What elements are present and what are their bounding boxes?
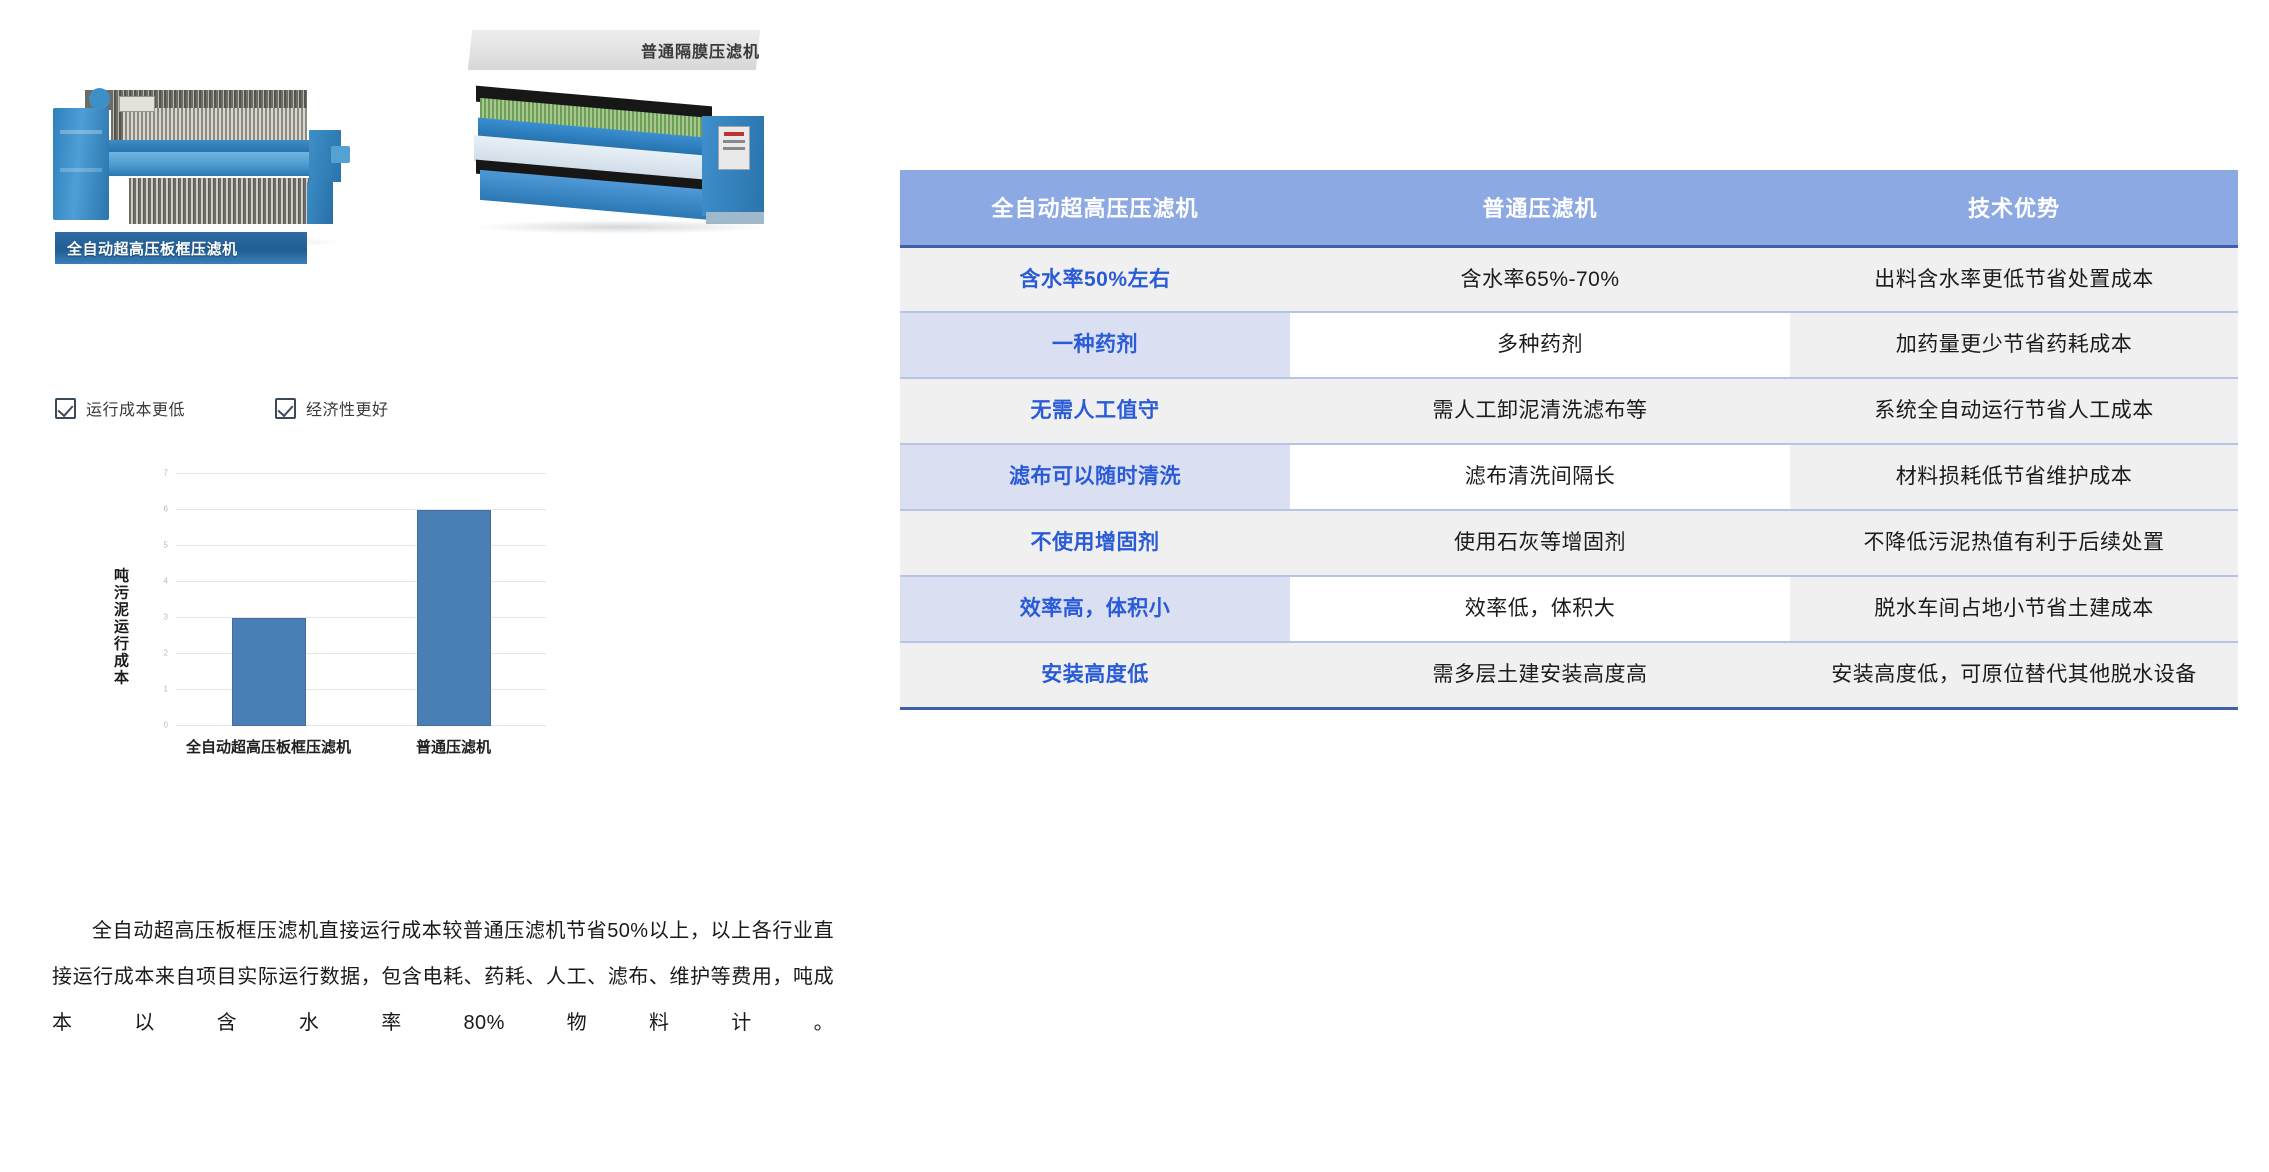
chart-bar (232, 618, 306, 726)
table-cell-feature: 效率高，体积小 (900, 576, 1290, 642)
benefit-item-0: 运行成本更低 (55, 396, 185, 420)
panel-indicator-gray-2 (723, 147, 745, 150)
table-cell-ordinary: 滤布清洗间隔长 (1290, 444, 1790, 510)
chart-gridline: 4 (176, 581, 546, 582)
secondary-photo-caption: 普通隔膜压滤机 (590, 38, 760, 62)
table-cell-ordinary: 需多层土建安装高度高 (1290, 642, 1790, 708)
chart-bar (417, 510, 491, 726)
table-cell-feature: 含水率50%左右 (900, 246, 1290, 312)
table-cell-ordinary: 需人工卸泥清洗滤布等 (1290, 378, 1790, 444)
chart-y-tick-label: 1 (164, 685, 168, 694)
machine-body (53, 108, 109, 220)
plate-stack-bottom (129, 178, 315, 224)
filter-press-machine-image: 全自动超高压板框压滤机 (45, 42, 350, 247)
chart-y-tick-label: 5 (164, 541, 168, 550)
slide-page: 全自动超高压板框压滤机 普通隔膜压滤机 (0, 0, 2269, 1172)
table-cell-ordinary: 效率低，体积大 (1290, 576, 1790, 642)
table-cell-feature: 无需人工值守 (900, 378, 1290, 444)
table-cell-advantage: 材料损耗低节省维护成本 (1790, 444, 2238, 510)
left-panel: 全自动超高压板框压滤机 普通隔膜压滤机 (0, 0, 890, 1172)
machine-illustration-secondary (470, 68, 816, 250)
table-cell-feature: 一种药剂 (900, 312, 1290, 378)
machine2-control-panel (718, 126, 750, 170)
table-row: 不使用增固剂使用石灰等增固剂不降低污泥热值有利于后续处置 (900, 510, 2238, 576)
chart-y-tick-label: 4 (164, 577, 168, 586)
table-cell-feature: 不使用增固剂 (900, 510, 1290, 576)
chart-y-tick-label: 6 (164, 505, 168, 514)
chart-x-tick-label: 全自动超高压板框压滤机 (186, 736, 351, 757)
table-cell-feature: 滤布可以随时清洗 (900, 444, 1290, 510)
table-row: 滤布可以随时清洗滤布清洗间隔长材料损耗低节省维护成本 (900, 444, 2238, 510)
panel-indicator-gray (723, 140, 745, 143)
table-cell-ordinary: 多种药剂 (1290, 312, 1790, 378)
plate-stack-top-inner (123, 108, 307, 142)
table-cell-ordinary: 使用石灰等增固剂 (1290, 510, 1790, 576)
column-header-ordinary: 普通压滤机 (1290, 170, 1790, 246)
chart-gridline: 5 (176, 545, 546, 546)
chart-x-tick-label: 普通压滤机 (416, 736, 491, 757)
table-row: 安装高度低需多层土建安装高度高安装高度低，可原位替代其他脱水设备 (900, 642, 2238, 708)
table-body: 含水率50%左右含水率65%-70%出料含水率更低节省处置成本一种药剂多种药剂加… (900, 246, 2238, 708)
machine-box-right (119, 96, 155, 112)
diaphragm-filter-press-image: 普通隔膜压滤机 (470, 30, 820, 260)
chart-y-axis-label: 吨污泥运行成本 (110, 568, 131, 687)
checkbox-checked-icon (275, 398, 296, 419)
chart-gridline: 7 (176, 473, 546, 474)
machine-illustration-primary (45, 60, 350, 225)
machine-foot (307, 182, 333, 224)
chart-plot-area: 01234567全自动超高压板框压滤机普通压滤机 (176, 474, 546, 726)
table-row: 效率高，体积小效率低，体积大脱水车间占地小节省土建成本 (900, 576, 2238, 642)
machine-beam-upper (103, 140, 321, 152)
table-cell-advantage: 出料含水率更低节省处置成本 (1790, 246, 2238, 312)
chart-gridline: 6 (176, 509, 546, 510)
chart-y-tick-label: 7 (164, 469, 168, 478)
primary-photo-caption: 全自动超高压板框压滤机 (67, 238, 238, 259)
primary-photo-caption-banner: 全自动超高压板框压滤机 (55, 232, 307, 264)
table-cell-advantage: 不降低污泥热值有利于后续处置 (1790, 510, 2238, 576)
benefit-label-0: 运行成本更低 (86, 396, 185, 420)
table-header-row: 全自动超高压压滤机 普通压滤机 技术优势 (900, 170, 2238, 246)
machine2-shadow (470, 220, 770, 234)
description-paragraph: 全自动超高压板框压滤机直接运行成本较普通压滤机节省50%以上，以上各行业直接运行… (52, 908, 834, 1046)
table-cell-advantage: 加药量更少节省药耗成本 (1790, 312, 2238, 378)
panel-indicator-red (724, 132, 744, 136)
benefit-checklist: 运行成本更低 经济性更好 (55, 396, 389, 420)
benefit-item-1: 经济性更好 (275, 396, 389, 420)
machine-nozzle (331, 146, 350, 163)
table-cell-ordinary: 含水率65%-70% (1290, 246, 1790, 312)
table-cell-advantage: 系统全自动运行节省人工成本 (1790, 378, 2238, 444)
column-header-advantage: 技术优势 (1790, 170, 2238, 246)
chart-y-tick-label: 3 (164, 613, 168, 622)
operating-cost-bar-chart: 吨污泥运行成本 01234567全自动超高压板框压滤机普通压滤机 (108, 462, 558, 792)
machine-knob (89, 88, 110, 110)
table-row: 一种药剂多种药剂加药量更少节省药耗成本 (900, 312, 2238, 378)
table-row: 含水率50%左右含水率65%-70%出料含水率更低节省处置成本 (900, 246, 2238, 312)
table-cell-feature: 安装高度低 (900, 642, 1290, 708)
benefit-label-1: 经济性更好 (306, 396, 389, 420)
column-header-feature: 全自动超高压压滤机 (900, 170, 1290, 246)
checkbox-checked-icon (55, 398, 76, 419)
chart-y-tick-label: 2 (164, 649, 168, 658)
chart-y-tick-label: 0 (164, 721, 168, 730)
machine-beam (103, 152, 321, 176)
table-cell-advantage: 脱水车间占地小节省土建成本 (1790, 576, 2238, 642)
comparison-table: 全自动超高压压滤机 普通压滤机 技术优势 含水率50%左右含水率65%-70%出… (900, 170, 2238, 710)
table-cell-advantage: 安装高度低，可原位替代其他脱水设备 (1790, 642, 2238, 708)
table-row: 无需人工值守需人工卸泥清洗滤布等系统全自动运行节省人工成本 (900, 378, 2238, 444)
